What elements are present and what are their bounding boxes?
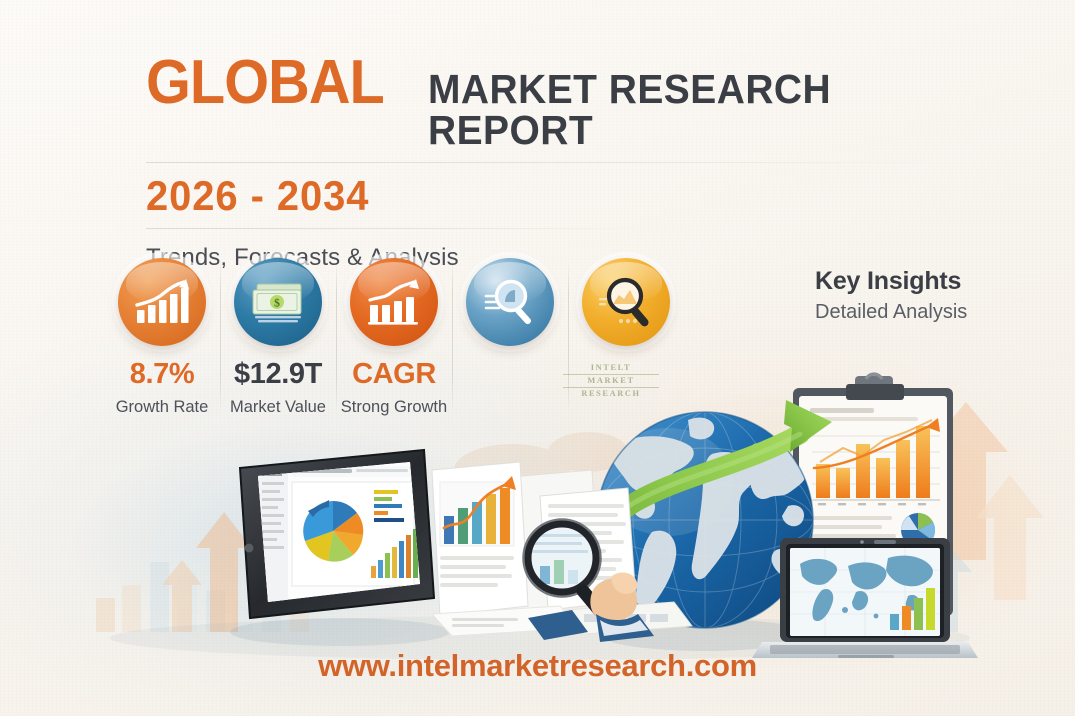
key-insights-caption: Key Insights Detailed Analysis <box>815 267 967 324</box>
report-bar-chart <box>440 476 516 546</box>
svg-text:$: $ <box>274 296 280 310</box>
magnifier-chart-icon <box>582 258 670 346</box>
title-remainder: MARKET RESEARCH REPORT <box>428 69 930 151</box>
year-divider <box>146 228 646 229</box>
key-insights-title: Key Insights <box>815 267 967 296</box>
title-divider <box>146 162 956 163</box>
key-insights-subtitle: Detailed Analysis <box>815 301 967 324</box>
laptop-world-map <box>752 538 978 658</box>
magnifier-search-icon <box>466 258 554 346</box>
banknote-dollar-icon: $ <box>234 258 322 346</box>
footer: www.intelmarketresearch.com <box>0 648 1075 684</box>
website-url[interactable]: www.intelmarketresearch.com <box>318 648 757 683</box>
main-title-row: GLOBAL MARKET RESEARCH REPORT <box>146 52 956 151</box>
laptop-screen-content <box>790 548 940 636</box>
stat-key-insights <box>568 258 684 369</box>
infographic-poster: GLOBAL MARKET RESEARCH REPORT 2026 - 203… <box>0 0 1075 716</box>
year-range: 2026 - 2034 <box>146 175 916 217</box>
header-block: GLOBAL MARKET RESEARCH REPORT 2026 - 203… <box>146 52 956 272</box>
stat-research <box>452 258 568 369</box>
tablet-screen-content <box>255 458 425 608</box>
growth-bar-chart-arrow-icon <box>118 258 206 346</box>
title-accent-word: GLOBAL <box>146 52 384 114</box>
tablet-dashboard <box>230 450 450 646</box>
illustration-scene <box>0 370 1075 660</box>
bar-chart-arrow-icon <box>350 258 438 346</box>
